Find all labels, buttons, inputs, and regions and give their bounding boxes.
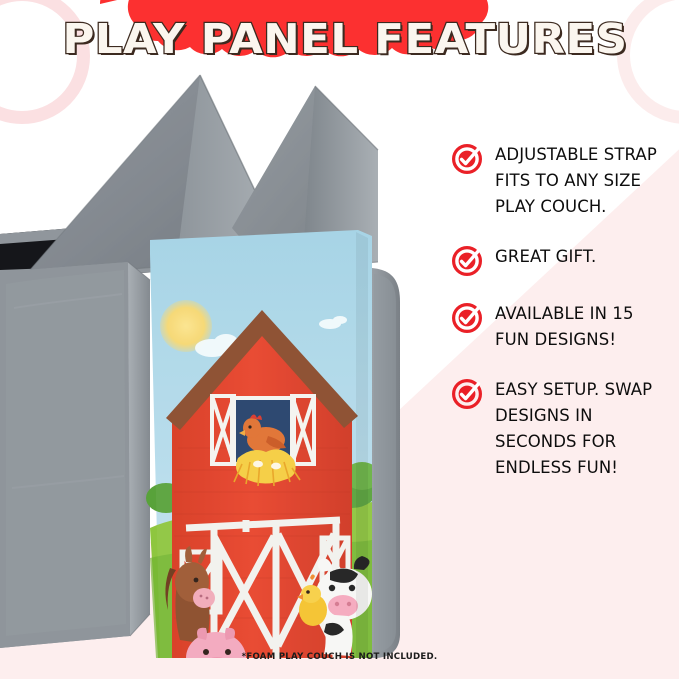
couch-armrest-right [372,268,400,658]
check-circle-icon [452,378,484,410]
couch-side-cushion [0,262,150,648]
disclaimer-footnote: *FOAM PLAY COUCH IS NOT INCLUDED. [0,652,679,662]
feature-item-2: GREAT GIFT. [452,244,674,277]
check-circle-icon [452,302,484,334]
check-circle-icon [452,245,484,277]
barn-play-panel [146,230,380,658]
feature-item-1: ADJUSTABLE STRAP FITS TO ANY SIZE PLAY C… [452,142,674,220]
feature-text: ADJUSTABLE STRAP FITS TO ANY SIZE PLAY C… [495,142,671,220]
page-title: PLAY PANEL FEATURES [56,0,635,82]
feature-list: ADJUSTABLE STRAP FITS TO ANY SIZE PLAY C… [452,142,674,505]
infographic-canvas: PLAY PANEL FEATURES ADJUSTABLE STRAP FIT… [0,0,679,679]
title-banner: PLAY PANEL FEATURES [72,0,618,82]
feature-text: AVAILABLE IN 15 FUN DESIGNS! [495,301,671,353]
feature-text: GREAT GIFT. [495,244,596,270]
check-circle-icon [452,143,484,175]
feature-item-3: AVAILABLE IN 15 FUN DESIGNS! [452,301,674,353]
feature-text: EASY SETUP. SWAP DESIGNS IN SECONDS FOR … [495,377,671,481]
product-photo [0,58,448,658]
feature-item-4: EASY SETUP. SWAP DESIGNS IN SECONDS FOR … [452,377,674,481]
